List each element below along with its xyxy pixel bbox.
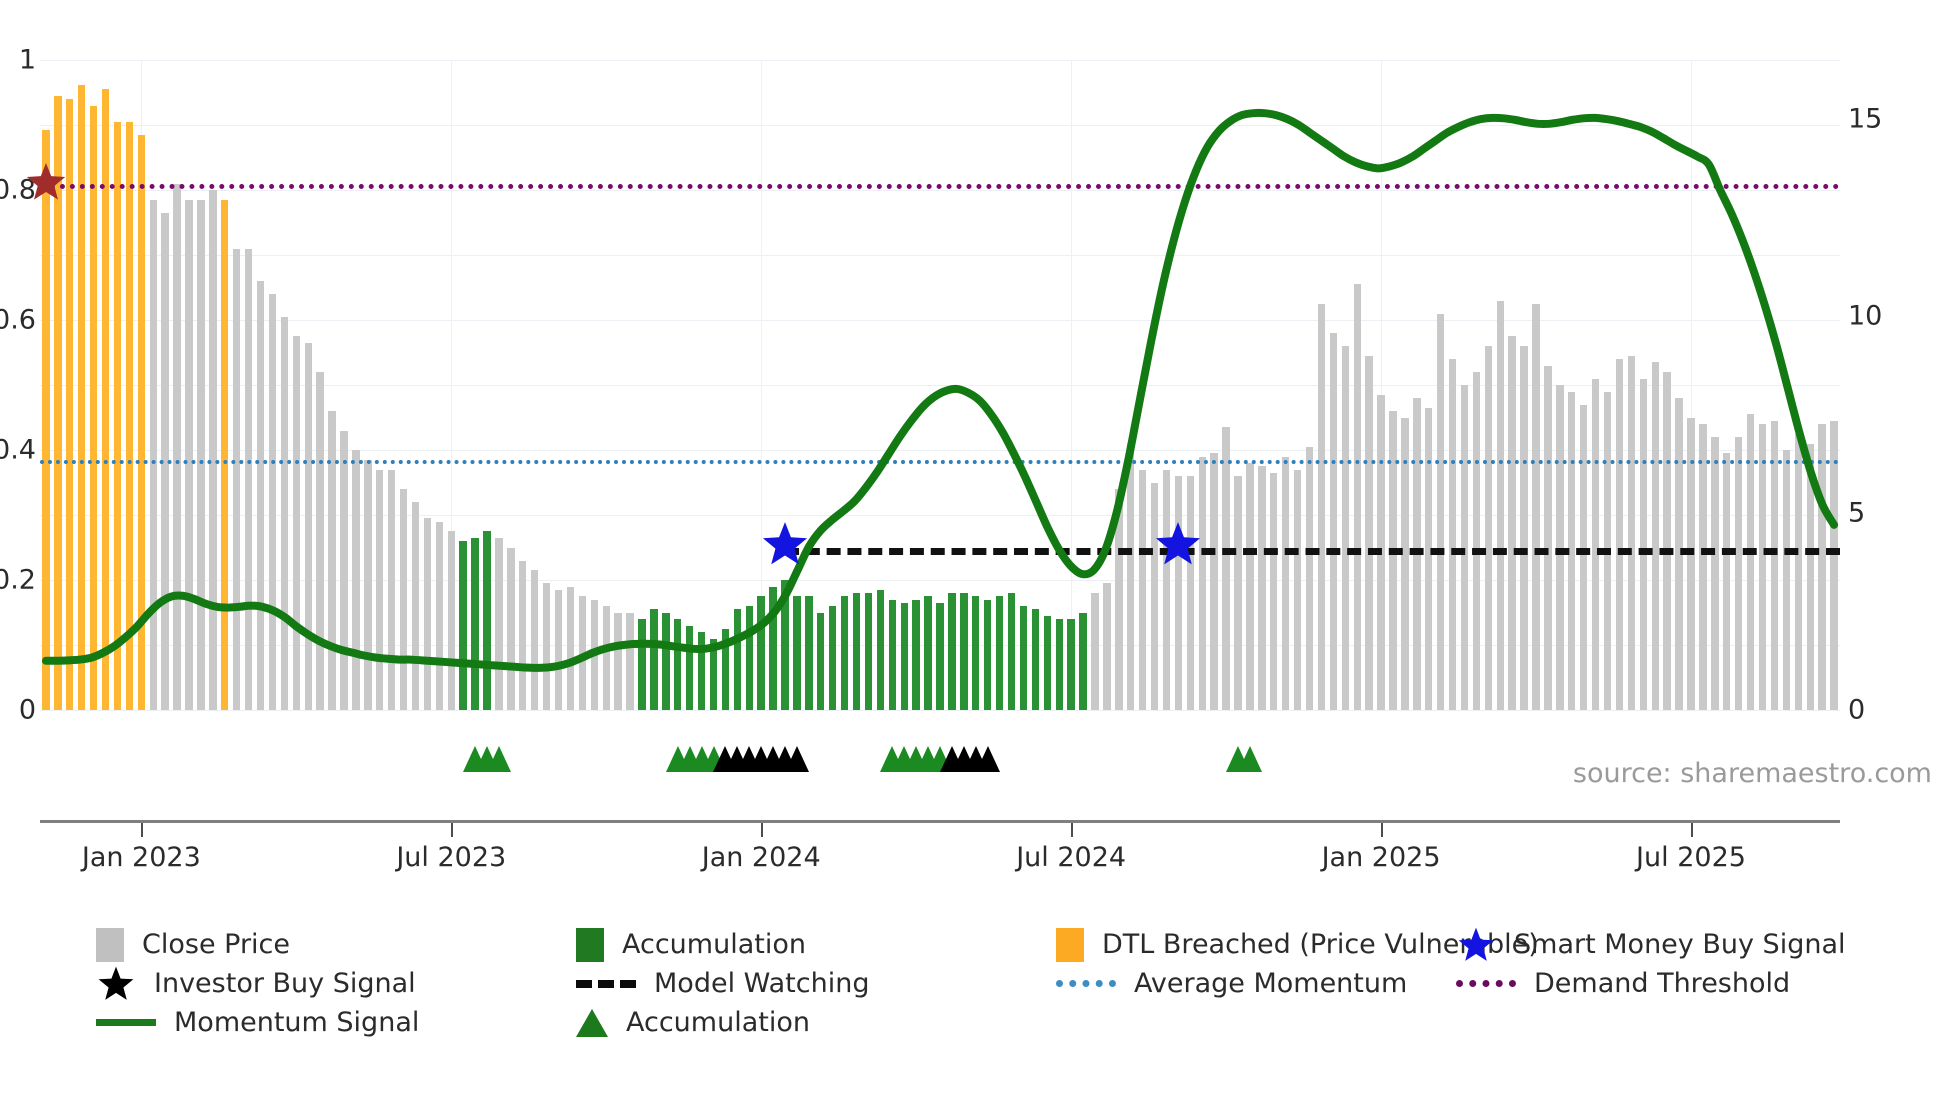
investor-star-icon	[96, 965, 136, 1003]
accumulation-triangle-marker	[1238, 746, 1262, 772]
x-axis-tick-mark	[1071, 823, 1073, 837]
legend-label: Average Momentum	[1134, 968, 1407, 999]
right-axis-tick-label: 10	[1848, 303, 1882, 330]
left-axis-tick-label: 0.2	[0, 567, 36, 594]
right-axis: 151050	[1848, 60, 1908, 710]
smart-money-buy-signal-star[interactable]	[762, 521, 808, 571]
model-watching-line-icon	[576, 980, 636, 988]
legend-row-1: Close Price Accumulation DTL Breached (P…	[96, 925, 1936, 964]
legend-item-close-price[interactable]: Close Price	[96, 925, 290, 964]
x-axis-tick-mark	[1691, 823, 1693, 837]
left-axis-tick-label: 0.4	[0, 437, 36, 464]
legend-label: Investor Buy Signal	[154, 968, 416, 999]
legend-item-model-watching[interactable]: Model Watching	[576, 964, 869, 1003]
x-axis-line	[40, 820, 1840, 823]
x-axis-tick-mark	[451, 823, 453, 837]
smart-money-buy-signal-star[interactable]	[1155, 521, 1201, 571]
x-axis-tick-label: Jan 2024	[702, 842, 821, 873]
close-price-swatch-icon	[96, 928, 124, 962]
average-momentum-line-icon	[1056, 980, 1116, 987]
accumulation-triangle-row	[40, 738, 1840, 772]
right-axis-tick-label: 15	[1848, 106, 1882, 133]
legend-item-investor-buy[interactable]: Investor Buy Signal	[96, 964, 416, 1003]
source-attribution: source: sharemaestro.com	[1573, 758, 1932, 789]
left-axis-tick-label: 1	[19, 47, 36, 74]
right-axis-tick-label: 5	[1848, 500, 1865, 527]
momentum-signal-path	[46, 113, 1834, 668]
legend-item-accumulation-bar[interactable]: Accumulation	[576, 925, 806, 964]
right-axis-tick-label: 0	[1848, 697, 1865, 724]
demand-threshold-line-icon	[1456, 980, 1516, 987]
legend-label: Accumulation	[626, 1007, 810, 1038]
left-axis: 10.80.60.40.20	[0, 60, 36, 710]
chart-legend: Close Price Accumulation DTL Breached (P…	[96, 925, 1936, 1042]
left-axis-tick-label: 0	[19, 697, 36, 724]
plot-area	[40, 60, 1840, 710]
x-axis-tick-mark	[761, 823, 763, 837]
momentum-signal-line	[40, 60, 1840, 710]
investor-buy-triangle-marker	[976, 746, 1000, 772]
star-icon	[762, 521, 808, 567]
legend-row-3: Momentum Signal Accumulation	[96, 1003, 1936, 1042]
investor-buy-triangle-marker	[785, 746, 809, 772]
legend-item-momentum-signal[interactable]: Momentum Signal	[96, 1003, 419, 1042]
star-icon	[26, 162, 66, 202]
legend-label: Demand Threshold	[1534, 968, 1790, 999]
accumulation-triangle-icon	[576, 1009, 608, 1037]
star-icon	[1155, 521, 1201, 567]
legend-item-demand-threshold[interactable]: Demand Threshold	[1456, 964, 1790, 1003]
x-axis-tick-label: Jan 2025	[1322, 842, 1441, 873]
legend-label: Smart Money Buy Signal	[1514, 929, 1846, 960]
accumulation-triangle-marker	[487, 746, 511, 772]
left-axis-tick-label: 0.6	[0, 307, 36, 334]
x-axis-tick-label: Jul 2023	[396, 842, 506, 873]
legend-item-average-momentum[interactable]: Average Momentum	[1056, 964, 1407, 1003]
momentum-signal-line-icon	[96, 1019, 156, 1026]
legend-item-smart-money-buy[interactable]: Smart Money Buy Signal	[1456, 925, 1846, 964]
legend-row-2: Investor Buy Signal Model Watching Avera…	[96, 964, 1936, 1003]
chart-figure: 10.80.60.40.20 151050 Jan 2023Jul 2023Ja…	[0, 0, 1960, 1102]
legend-label: Model Watching	[654, 968, 869, 999]
legend-item-accumulation-triangle[interactable]: Accumulation	[576, 1003, 810, 1042]
smart-money-star-icon	[1456, 926, 1496, 964]
accumulation-swatch-icon	[576, 928, 604, 962]
x-axis-tick-label: Jan 2023	[82, 842, 201, 873]
x-axis-tick-label: Jul 2025	[1636, 842, 1746, 873]
x-axis-tick-mark	[141, 823, 143, 837]
investor-buy-signal-star[interactable]	[26, 162, 66, 206]
x-axis-tick-mark	[1381, 823, 1383, 837]
legend-label: Accumulation	[622, 929, 806, 960]
legend-label: Momentum Signal	[174, 1007, 419, 1038]
gridline	[40, 710, 1840, 711]
legend-label: Close Price	[142, 929, 290, 960]
dtl-breached-swatch-icon	[1056, 928, 1084, 962]
x-axis-tick-label: Jul 2024	[1016, 842, 1126, 873]
